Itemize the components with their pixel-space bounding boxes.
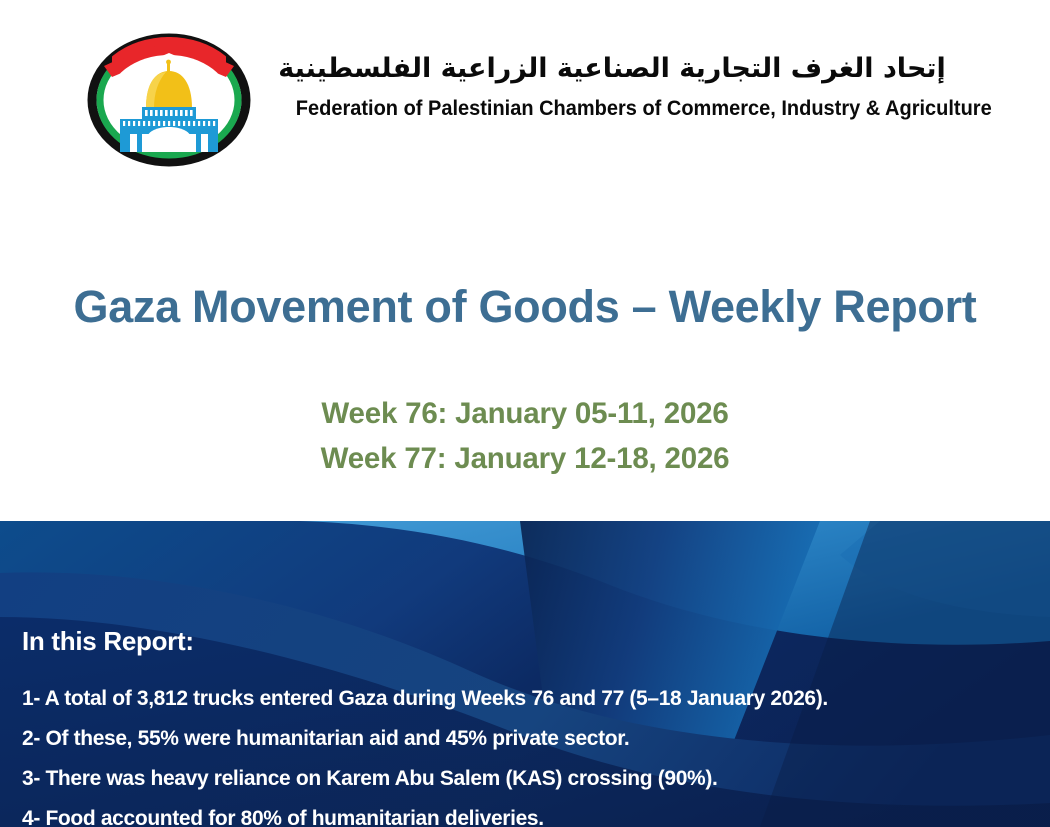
title-block: Gaza Movement of Goods – Weekly Report xyxy=(0,282,1050,332)
report-item-3: 3- There was heavy reliance on Karem Abu… xyxy=(22,759,1032,799)
banner-content: In this Report: 1- A total of 3,812 truc… xyxy=(0,521,1050,827)
report-item-2: 2- Of these, 55% were humanitarian aid a… xyxy=(22,719,1032,759)
week-line-77: Week 77: January 12-18, 2026 xyxy=(0,436,1050,481)
dome-of-the-rock-oval-logo xyxy=(86,33,252,168)
report-cover-page: إتحاد الغرف التجارية الصناعية الزراعية ا… xyxy=(0,0,1050,827)
org-name-english: Federation of Palestinian Chambers of Co… xyxy=(296,96,928,121)
federation-logo xyxy=(86,33,252,168)
page-title: Gaza Movement of Goods – Weekly Report xyxy=(0,282,1050,332)
report-item-4: 4- Food accounted for 80% of humanitaria… xyxy=(22,799,1032,827)
week-line-76: Week 76: January 05-11, 2026 xyxy=(0,391,1050,436)
report-summary-list: 1- A total of 3,812 trucks entered Gaza … xyxy=(22,679,1032,827)
report-item-1: 1- A total of 3,812 trucks entered Gaza … xyxy=(22,679,1032,719)
report-heading: In this Report: xyxy=(22,626,194,657)
org-name-arabic: إتحاد الغرف التجارية الصناعية الزراعية ا… xyxy=(272,52,952,86)
summary-banner: In this Report: 1- A total of 3,812 truc… xyxy=(0,521,1050,827)
organization-names: إتحاد الغرف التجارية الصناعية الزراعية ا… xyxy=(272,52,952,121)
page-header: إتحاد الغرف التجارية الصناعية الزراعية ا… xyxy=(0,0,1050,180)
week-range-block: Week 76: January 05-11, 2026 Week 77: Ja… xyxy=(0,391,1050,481)
